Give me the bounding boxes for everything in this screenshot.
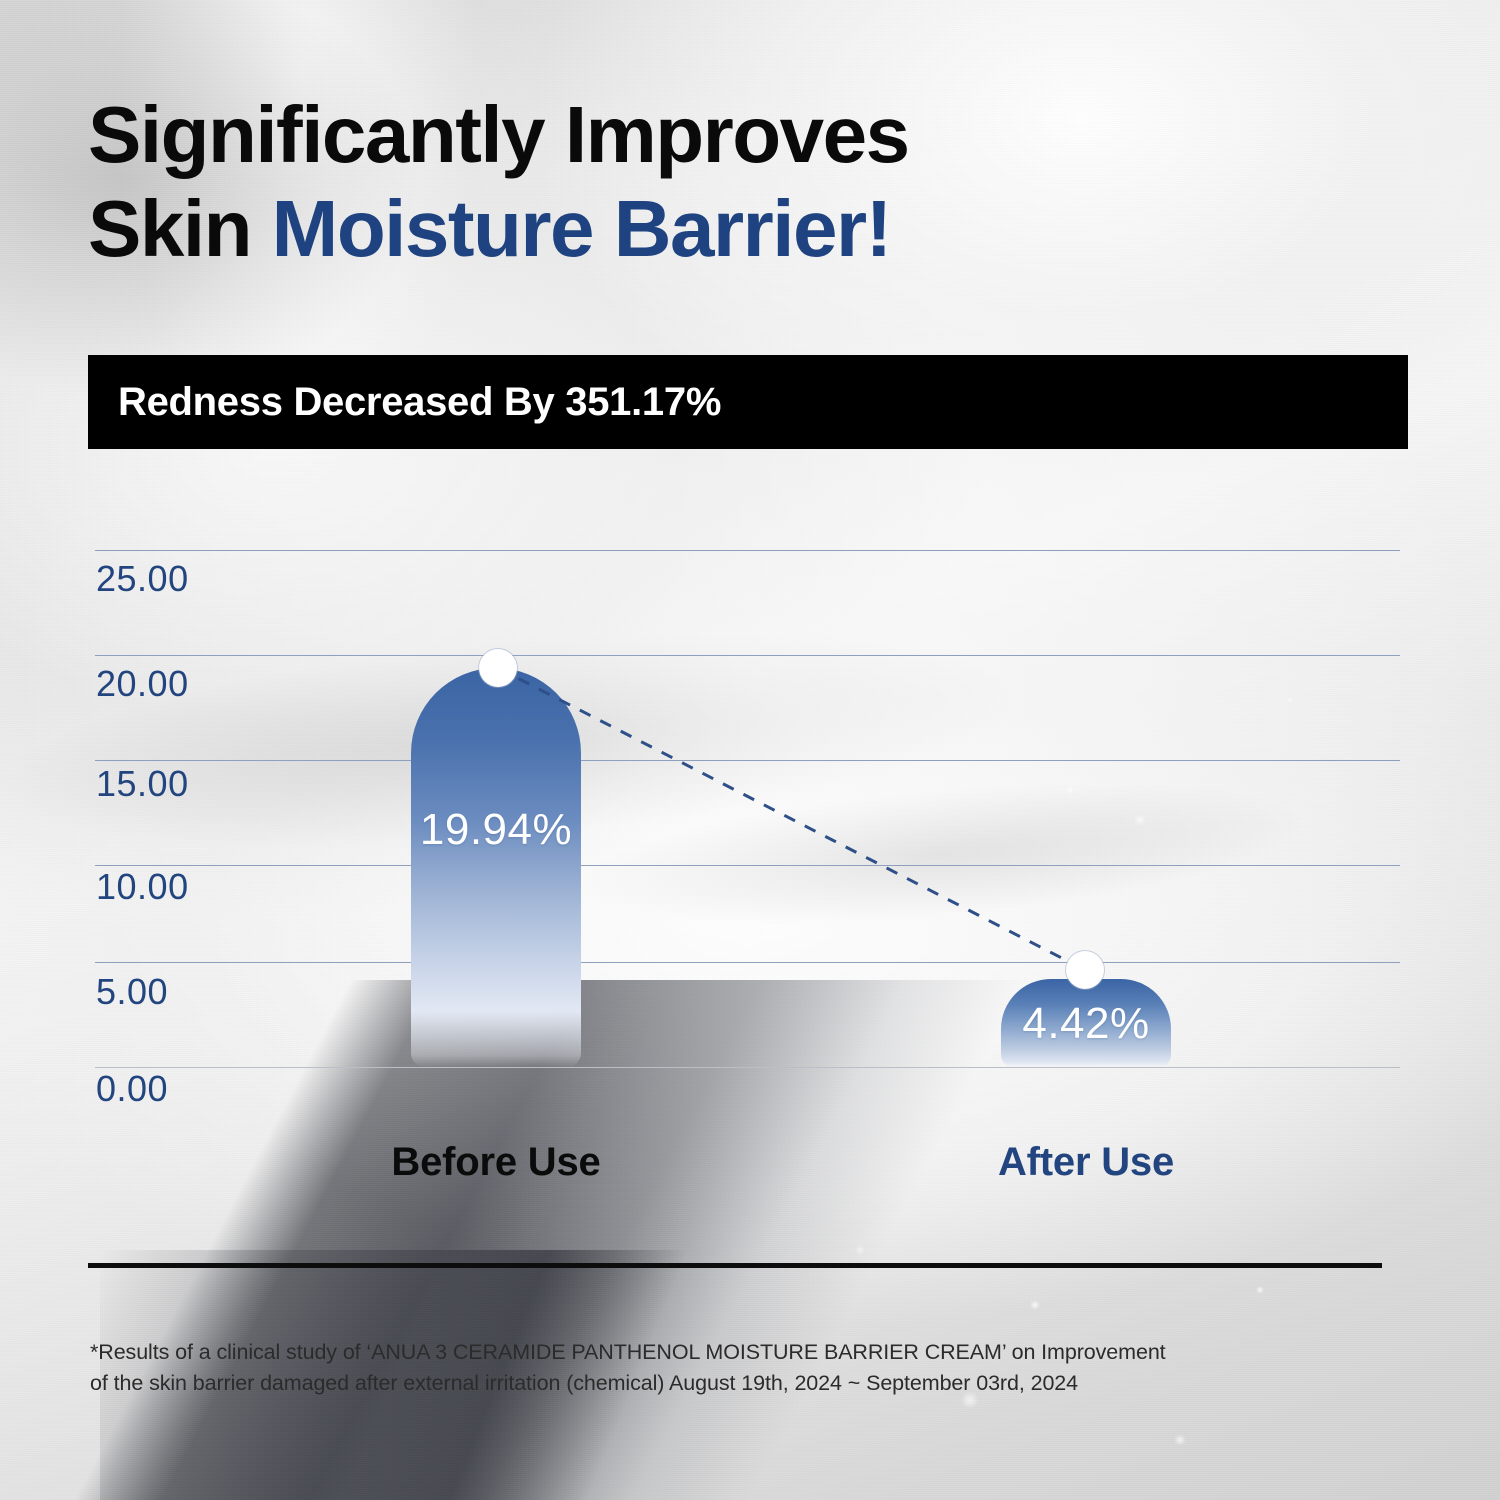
marker-dot-after-use [1066,951,1104,989]
trend-connector [0,0,1500,1500]
x-axis-label-after-use: After Use [916,1140,1256,1185]
y-tick-label-15: 15.00 [96,763,189,805]
section-divider [88,1263,1382,1268]
infographic-canvas: Significantly Improves Skin Moisture Bar… [0,0,1500,1500]
bar-after-use: 4.42% [1001,979,1171,1067]
gridline-20 [95,655,1400,656]
marker-dot-before-use [479,649,517,687]
bar-before-use-fill [411,668,581,1067]
gridline-10 [95,865,1400,866]
y-tick-label-5: 5.00 [96,971,168,1013]
x-axis-label-before-use: Before Use [326,1140,666,1185]
gridline-5 [95,962,1400,963]
study-footnote: *Results of a clinical study of ‘ANUA 3 … [90,1337,1420,1399]
gridline-0 [95,1067,1400,1068]
footnote-line-2: of the skin barrier damaged after extern… [90,1368,1420,1399]
y-tick-label-0: 0.00 [96,1068,168,1110]
bar-before-use: 19.94% [411,668,581,1067]
bar-chart: 25.00 20.00 15.00 10.00 5.00 0.00 19.94%… [0,0,1500,1500]
bar-after-use-value: 4.42% [1022,999,1149,1049]
bar-before-use-value: 19.94% [420,805,572,855]
gridline-25 [95,550,1400,551]
footnote-line-1: *Results of a clinical study of ‘ANUA 3 … [90,1340,1166,1364]
y-tick-label-20: 20.00 [96,663,189,705]
y-tick-label-10: 10.00 [96,866,189,908]
gridline-15 [95,760,1400,761]
y-tick-label-25: 25.00 [96,558,189,600]
